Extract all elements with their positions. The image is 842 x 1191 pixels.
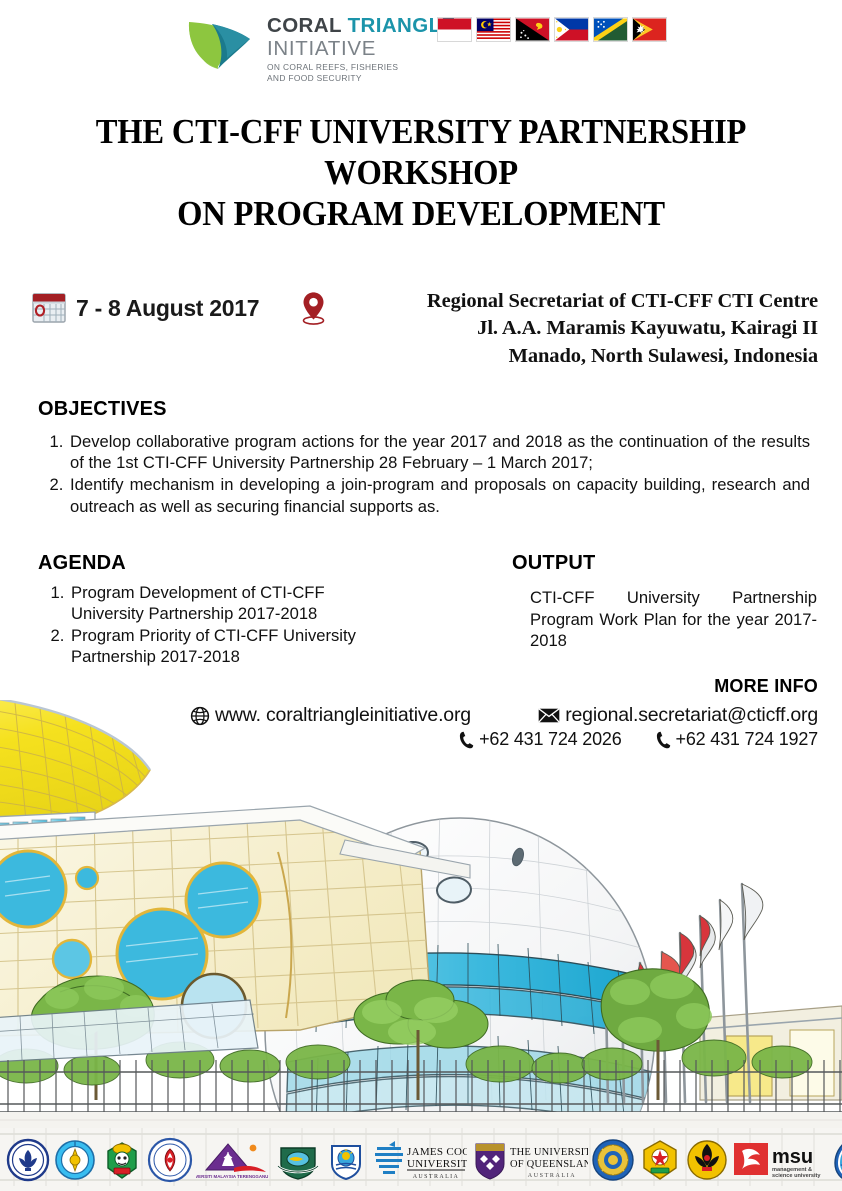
flag-malaysia <box>476 17 511 42</box>
svg-text:science university: science university <box>772 1173 821 1179</box>
email-text: regional.secretariat@cticff.org <box>565 704 818 727</box>
globe-icon <box>190 706 210 726</box>
event-date-venue-block: 7 - 8 August 2017 Regional Secretariat o… <box>0 288 842 384</box>
phone-item-1[interactable]: +62 431 724 2026 <box>459 729 621 750</box>
wordmark-tagline: ON CORAL REEFS, FISHERIES AND FOOD SECUR… <box>267 62 456 84</box>
website-item[interactable]: www. coraltriangleinitiative.org <box>190 704 471 727</box>
cti-cff-logo-icon <box>186 14 258 76</box>
phone-icon <box>459 731 474 749</box>
more-info-section: MORE INFO www. coraltriangleinitiative.o… <box>190 676 818 750</box>
svg-text:AUSTRALIA: AUSTRALIA <box>528 1173 576 1179</box>
svg-text:UNIVERSITI MALAYSIA TERENGGANU: UNIVERSITI MALAYSIA TERENGGANU <box>196 1174 268 1179</box>
venue-line-2: Jl. A.A. Maramis Kayuwatu, Kairagi II <box>331 315 818 342</box>
calendar-icon <box>32 292 66 324</box>
building-sketch-svg <box>0 700 842 1140</box>
event-venue-address: Regional Secretariat of CTI-CFF CTI Cent… <box>327 288 818 370</box>
agenda-item: Program Development of CTI-CFF Universit… <box>69 583 368 625</box>
event-date-text: 7 - 8 August 2017 <box>76 295 259 322</box>
map-pin-icon <box>300 291 327 325</box>
venue-line-3: Manado, North Sulawesi, Indonesia <box>331 343 818 370</box>
objectives-item: Develop collaborative program actions fo… <box>68 431 810 473</box>
cti-centre-building-illustration <box>0 700 842 1140</box>
flag-papua-new-guinea <box>515 17 550 42</box>
venue-line-1: Regional Secretariat of CTI-CFF CTI Cent… <box>331 288 818 315</box>
objectives-item: Identify mechanism in developing a join-… <box>68 474 810 516</box>
logo-universitas-padjadjaran <box>147 1137 193 1183</box>
objectives-heading: OBJECTIVES <box>38 398 810 421</box>
logo-universitas-sam-ratulangi <box>100 1138 144 1182</box>
logo-university-of-guam <box>831 1137 842 1183</box>
cti-cff-logo-block: CORAL TRIANGLE INITIATIVE ON CORAL REEFS… <box>186 14 456 84</box>
logo-universitas-brawijaya <box>685 1138 729 1182</box>
agenda-section: AGENDA Program Development of CTI-CFF Un… <box>38 552 368 669</box>
partner-logos-row: UNIVERSITI MALAYSIA TERENGGANU <box>0 1128 842 1191</box>
poster-title-line-2: WORKSHOP <box>29 153 812 194</box>
poster-title-line-1: THE CTI-CFF UNIVERSITY PARTNERSHIP <box>29 112 812 153</box>
event-venue-group: Regional Secretariat of CTI-CFF CTI Cent… <box>300 288 818 370</box>
contact-row-phones: +62 431 724 2026 +62 431 724 1927 <box>190 729 818 750</box>
poster-title-line-3: ON PROGRAM DEVELOPMENT <box>29 194 812 235</box>
logo-universitas-negeri-manado <box>638 1138 682 1182</box>
svg-text:AUSTRALIA: AUSTRALIA <box>413 1174 460 1180</box>
more-info-heading: MORE INFO <box>190 676 818 697</box>
email-item[interactable]: regional.secretariat@cticff.org <box>538 704 818 727</box>
flag-philippines <box>554 17 589 42</box>
logo-james-cook-university: JAMES COOK UNIVERSITY AUSTRALIA <box>371 1139 467 1181</box>
output-heading: OUTPUT <box>512 552 817 575</box>
output-section: OUTPUT CTI-CFF University Partnership Pr… <box>512 552 817 652</box>
wordmark-initiative: INITIATIVE <box>267 39 456 60</box>
logo-the-university-of-queensland: THE UNIVERSITY OF QUEENSLAND AUSTRALIA <box>470 1138 588 1182</box>
svg-text:THE UNIVERSITY: THE UNIVERSITY <box>510 1147 588 1158</box>
objectives-list: Develop collaborative program actions fo… <box>38 431 810 517</box>
logo-msu-management-and-science-university: msu management & science university <box>732 1139 828 1181</box>
phone-2-text: +62 431 724 1927 <box>676 729 818 750</box>
logo-papua-new-guinea-university <box>275 1138 321 1182</box>
flag-solomon-islands <box>593 17 628 42</box>
phone-icon <box>656 731 671 749</box>
logo-universitas-diponegoro <box>53 1138 97 1182</box>
flag-indonesia <box>437 17 472 42</box>
agenda-item: Program Priority of CTI-CFF University P… <box>69 626 368 668</box>
phone-1-text: +62 431 724 2026 <box>479 729 621 750</box>
cti-cff-wordmark: CORAL TRIANGLE INITIATIVE ON CORAL REEFS… <box>267 14 456 84</box>
svg-text:msu: msu <box>772 1146 813 1168</box>
agenda-heading: AGENDA <box>38 552 368 575</box>
envelope-icon <box>538 708 560 723</box>
partner-logos-footer: UNIVERSITI MALAYSIA TERENGGANU <box>0 1128 842 1191</box>
poster-root: CORAL TRIANGLE INITIATIVE ON CORAL REEFS… <box>0 0 842 1191</box>
svg-text:UNIVERSITY: UNIVERSITY <box>407 1158 467 1170</box>
logo-solomon-islands-national-university <box>324 1138 368 1182</box>
logo-ipb-bogor-agricultural-university <box>6 1138 50 1182</box>
wordmark-line-1: CORAL TRIANGLE <box>267 16 456 37</box>
wordmark-tagline-line-1: ON CORAL REEFS, FISHERIES <box>267 62 456 73</box>
website-text: www. coraltriangleinitiative.org <box>215 704 471 727</box>
member-country-flags <box>437 17 667 42</box>
phone-item-2[interactable]: +62 431 724 1927 <box>656 729 818 750</box>
flag-timor-leste <box>632 17 667 42</box>
wordmark-coral: CORAL <box>267 14 342 37</box>
contact-row-primary: www. coraltriangleinitiative.org regiona… <box>190 704 818 727</box>
svg-text:OF QUEENSLAND: OF QUEENSLAND <box>510 1159 588 1170</box>
wordmark-tagline-line-2: AND FOOD SECURITY <box>267 73 456 84</box>
agenda-list: Program Development of CTI-CFF Universit… <box>38 583 368 668</box>
poster-header: CORAL TRIANGLE INITIATIVE ON CORAL REEFS… <box>0 0 842 100</box>
poster-title: THE CTI-CFF UNIVERSITY PARTNERSHIP WORKS… <box>29 112 812 235</box>
objectives-section: OBJECTIVES Develop collaborative program… <box>38 398 810 518</box>
output-body-text: CTI-CFF University Partnership Program W… <box>530 587 817 652</box>
logo-universiti-malaysia-terengganu: UNIVERSITI MALAYSIA TERENGGANU <box>196 1138 272 1182</box>
event-date-group: 7 - 8 August 2017 <box>32 292 259 324</box>
logo-universitas-hasanuddin-blue <box>591 1138 635 1182</box>
svg-text:JAMES COOK: JAMES COOK <box>407 1146 467 1158</box>
